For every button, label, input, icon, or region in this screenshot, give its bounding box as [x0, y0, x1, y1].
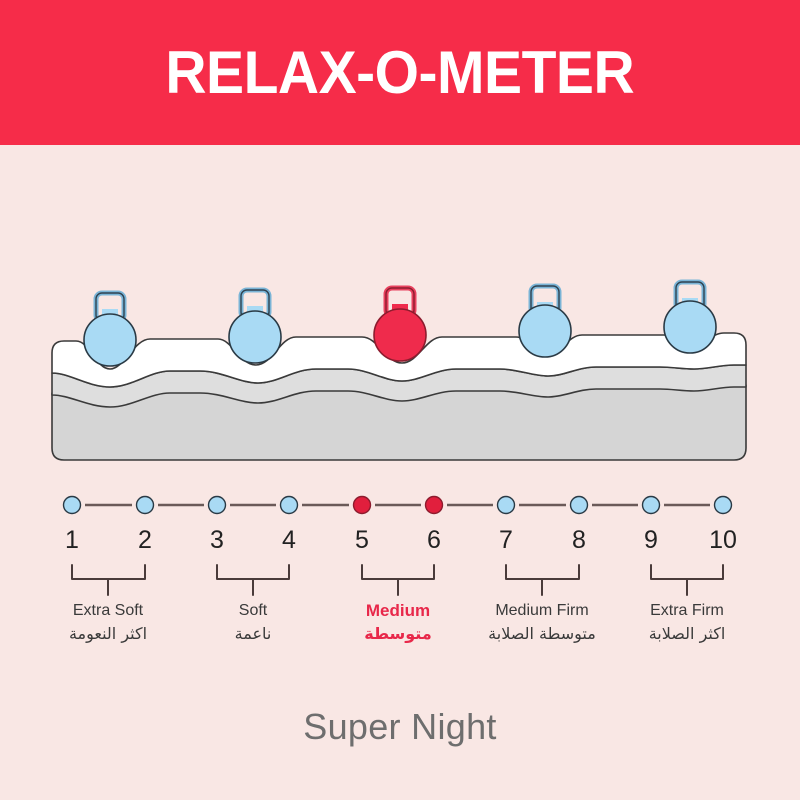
kettlebell-body: [519, 305, 571, 357]
scale-dot-4[interactable]: [281, 497, 298, 514]
scale-number-5: 5: [332, 525, 392, 555]
mattress-svg: [0, 265, 800, 475]
scale-number-4: 4: [259, 525, 319, 555]
weight-blue-2: [229, 290, 281, 363]
scale-dot-2[interactable]: [137, 497, 154, 514]
firmness-label-en-extra-firm: Extra Firm: [577, 600, 797, 622]
scale-numbers: 12345678910: [0, 525, 800, 557]
scale-number-3: 3: [187, 525, 247, 555]
weight-blue-4: [519, 286, 571, 357]
kettlebell-body: [229, 311, 281, 363]
firmness-group-extra-firm[interactable]: Extra Firmاكثر الصلابة: [577, 600, 797, 646]
page-title: RELAX-O-METER: [166, 43, 635, 103]
scale-number-6: 6: [404, 525, 464, 555]
scale-number-2: 2: [115, 525, 175, 555]
weight-blue-5: [664, 282, 716, 353]
scale-dot-5[interactable]: [354, 497, 371, 514]
firmness-label-ar-extra-firm: اكثر الصلابة: [577, 622, 797, 646]
scale-dot-9[interactable]: [643, 497, 660, 514]
mattress-illustration: [0, 265, 800, 475]
firmness-labels: Extra Softاكثر النعومةSoftناعمةMediumمتو…: [0, 600, 800, 670]
weight-red-medium: [374, 288, 426, 361]
scale-dot-1[interactable]: [64, 497, 81, 514]
scale-number-7: 7: [476, 525, 536, 555]
scale-dot-10[interactable]: [715, 497, 732, 514]
kettlebell-body: [664, 301, 716, 353]
bracket-extra-soft: [72, 565, 145, 595]
group-brackets: [72, 565, 723, 595]
product-name: Super Night: [0, 705, 800, 749]
scale-number-10: 10: [693, 525, 753, 555]
kettlebell-body: [374, 309, 426, 361]
weight-blue-1: [84, 293, 136, 366]
kettlebell-body: [84, 314, 136, 366]
scale-number-9: 9: [621, 525, 681, 555]
header-banner: RELAX-O-METER: [0, 0, 800, 145]
scale-dot-7[interactable]: [498, 497, 515, 514]
scale-number-8: 8: [549, 525, 609, 555]
scale-dot-3[interactable]: [209, 497, 226, 514]
relax-o-meter-page: RELAX-O-METER: [0, 0, 800, 800]
bracket-medium: [362, 565, 434, 595]
scale-dot-6[interactable]: [426, 497, 443, 514]
bracket-medium-firm: [506, 565, 579, 595]
scale-number-1: 1: [42, 525, 102, 555]
footer: Super Night: [0, 705, 800, 749]
bracket-soft: [217, 565, 289, 595]
scale-dot-8[interactable]: [571, 497, 588, 514]
bracket-extra-firm: [651, 565, 723, 595]
